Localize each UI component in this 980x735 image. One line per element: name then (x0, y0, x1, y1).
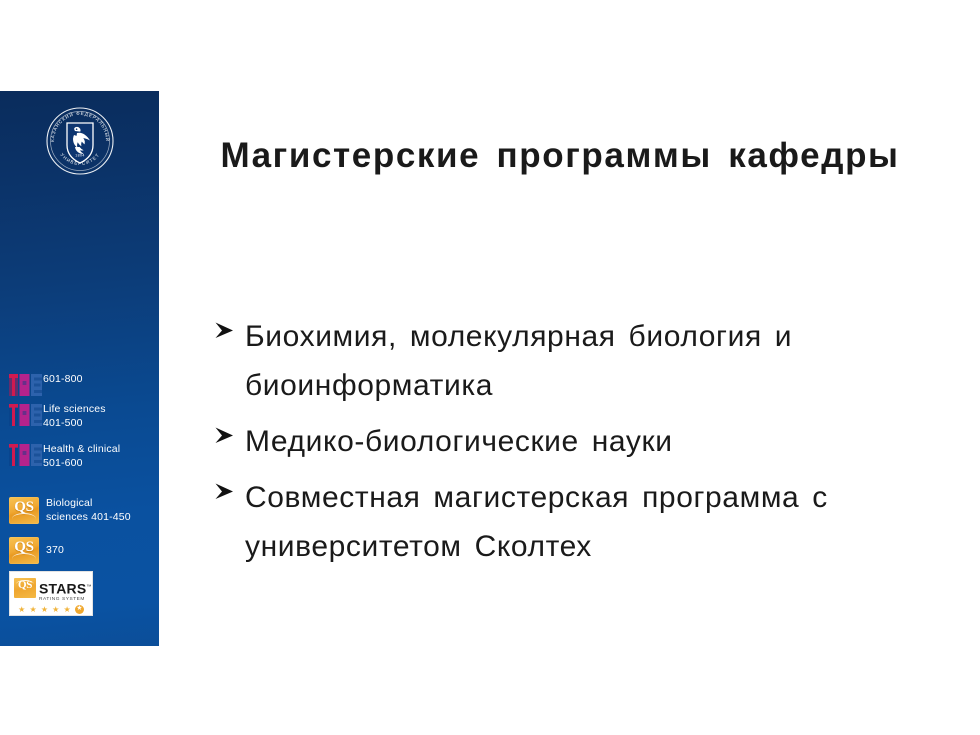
qs-stars-rating-badge: QS STARS™ RATING SYSTEM ★ ★ ★ ★ ★ (9, 571, 93, 616)
qs-stars-subtitle: RATING SYSTEM (39, 597, 88, 602)
ranking-value: 370 (46, 537, 64, 558)
list-item-label: Биохимия, молекулярная биология и биоинф… (245, 312, 885, 410)
qs-swoosh-icon (12, 553, 36, 560)
star-icon: ★ (29, 606, 36, 614)
ranking-row-the-overall: 601-800 (9, 373, 83, 397)
qs-swoosh-icon (12, 513, 36, 520)
list-item: Биохимия, молекулярная биология и биоинф… (212, 312, 912, 410)
trademark-symbol: ™ (86, 584, 91, 590)
qs-stars-header: QS STARS™ (14, 576, 88, 600)
star-icon: ★ (64, 606, 71, 614)
list-item: Медико-биологические науки (212, 417, 912, 466)
ranking-row-the-life-sciences: Life sciences 401-500 (9, 403, 106, 430)
ranking-value: Health & clinical 501-600 (43, 443, 120, 470)
ranking-value: 601-800 (43, 373, 83, 387)
arrow-head-bullet-icon (212, 417, 245, 447)
times-higher-education-logo-icon (9, 373, 43, 397)
times-higher-education-logo-icon (9, 443, 43, 467)
page-title: Магистерские программы кафедры (200, 132, 920, 179)
qs-stars-wordmark: STARS™ (39, 580, 92, 596)
qs-logo-icon: QS (9, 497, 39, 524)
qs-logo-icon: QS (14, 578, 36, 598)
star-icon: ★ (52, 606, 59, 614)
ranking-row-qs-overall: QS 370 (9, 537, 64, 564)
ranking-value: Biological sciences 401-450 (46, 497, 131, 524)
ranking-row-the-health-clinical: Health & clinical 501-600 (9, 443, 120, 470)
star-icon: ★ (18, 606, 25, 614)
qs-logo-icon: QS (9, 537, 39, 564)
ranking-row-qs-biological-sciences: QS Biological sciences 401-450 (9, 497, 131, 524)
star-icon: ★ (41, 606, 48, 614)
arrow-head-bullet-icon (212, 312, 245, 342)
slide-sidebar: КАЗАНСКИЙ ФЕДЕРАЛЬНЫЙ УНИВЕРСИТЕТ 1804 (0, 91, 159, 646)
arrow-head-bullet-icon (212, 473, 245, 503)
bullet-list: Биохимия, молекулярная биология и биоинф… (212, 312, 912, 578)
presentation-slide: КАЗАНСКИЙ ФЕДЕРАЛЬНЫЙ УНИВЕРСИТЕТ 1804 (0, 0, 980, 735)
list-item: Совместная магистерская программа с унив… (212, 473, 912, 571)
svg-text:1804: 1804 (75, 154, 85, 158)
list-item-label: Совместная магистерская программа с унив… (245, 473, 885, 571)
qs-stars-rating-stars: ★ ★ ★ ★ ★ (14, 605, 88, 614)
kazan-federal-university-logo-icon: КАЗАНСКИЙ ФЕДЕРАЛЬНЫЙ УНИВЕРСИТЕТ 1804 (44, 105, 116, 177)
qs-swoosh-icon (16, 580, 34, 585)
list-item-label: Медико-биологические науки (245, 417, 673, 466)
star-highlight-icon (75, 605, 84, 614)
times-higher-education-logo-icon (9, 403, 43, 427)
ranking-value: Life sciences 401-500 (43, 403, 106, 430)
